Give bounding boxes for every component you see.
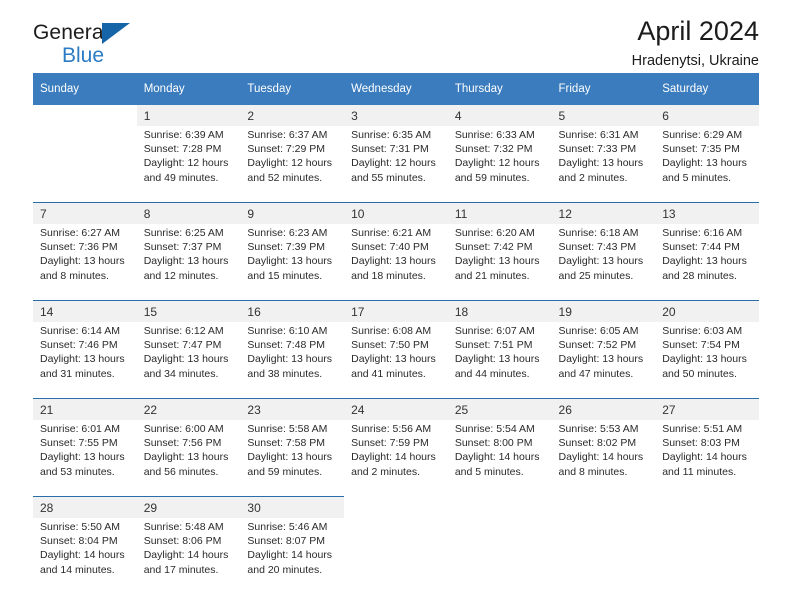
sunset-text: Sunset: 7:39 PM xyxy=(247,240,338,254)
day-details: Sunrise: 5:58 AMSunset: 7:58 PMDaylight:… xyxy=(240,420,344,497)
sunrise-text: Sunrise: 5:53 AM xyxy=(559,422,650,436)
daylight-text-line1: Daylight: 13 hours xyxy=(40,352,131,366)
day-number[interactable]: 27 xyxy=(655,399,759,421)
sunset-text: Sunset: 8:07 PM xyxy=(247,534,338,548)
day-number[interactable]: 22 xyxy=(137,399,241,421)
week-daynumber-row: 21222324252627 xyxy=(33,399,759,421)
sunset-text: Sunset: 7:58 PM xyxy=(247,436,338,450)
day-details: Sunrise: 5:46 AMSunset: 8:07 PMDaylight:… xyxy=(240,518,344,594)
sunset-text: Sunset: 7:44 PM xyxy=(662,240,753,254)
sunrise-text: Sunrise: 6:39 AM xyxy=(144,128,235,142)
sunrise-text: Sunrise: 6:33 AM xyxy=(455,128,546,142)
day-number[interactable]: 30 xyxy=(240,497,344,519)
day-cell-empty xyxy=(655,497,759,519)
day-number[interactable]: 26 xyxy=(552,399,656,421)
day-details: Sunrise: 6:03 AMSunset: 7:54 PMDaylight:… xyxy=(655,322,759,399)
day-details: Sunrise: 6:16 AMSunset: 7:44 PMDaylight:… xyxy=(655,224,759,301)
day-cell-empty xyxy=(552,518,656,594)
day-number[interactable]: 21 xyxy=(33,399,137,421)
sunrise-text: Sunrise: 5:51 AM xyxy=(662,422,753,436)
day-details: Sunrise: 6:37 AMSunset: 7:29 PMDaylight:… xyxy=(240,126,344,203)
daylight-text-line2: and 50 minutes. xyxy=(662,367,753,381)
weekday-header-wednesday: Wednesday xyxy=(344,73,448,105)
day-details: Sunrise: 6:31 AMSunset: 7:33 PMDaylight:… xyxy=(552,126,656,203)
sunset-text: Sunset: 7:32 PM xyxy=(455,142,546,156)
page-subtitle: Hradenytsi, Ukraine xyxy=(632,52,759,71)
daylight-text-line2: and 11 minutes. xyxy=(662,465,753,479)
sunrise-text: Sunrise: 5:58 AM xyxy=(247,422,338,436)
day-number[interactable]: 2 xyxy=(240,105,344,126)
daylight-text-line2: and 56 minutes. xyxy=(144,465,235,479)
day-number[interactable]: 12 xyxy=(552,203,656,225)
daylight-text-line2: and 59 minutes. xyxy=(455,171,546,185)
day-details: Sunrise: 6:21 AMSunset: 7:40 PMDaylight:… xyxy=(344,224,448,301)
day-number[interactable]: 5 xyxy=(552,105,656,126)
daylight-text-line2: and 49 minutes. xyxy=(144,171,235,185)
sunrise-text: Sunrise: 5:50 AM xyxy=(40,520,131,534)
sunrise-text: Sunrise: 5:56 AM xyxy=(351,422,442,436)
sunset-text: Sunset: 7:37 PM xyxy=(144,240,235,254)
daylight-text-line2: and 31 minutes. xyxy=(40,367,131,381)
day-details: Sunrise: 6:08 AMSunset: 7:50 PMDaylight:… xyxy=(344,322,448,399)
daylight-text-line2: and 53 minutes. xyxy=(40,465,131,479)
daylight-text-line1: Daylight: 13 hours xyxy=(455,254,546,268)
day-details: Sunrise: 6:27 AMSunset: 7:36 PMDaylight:… xyxy=(33,224,137,301)
day-number[interactable]: 23 xyxy=(240,399,344,421)
title-block: April 2024 Hradenytsi, Ukraine xyxy=(632,16,759,71)
day-number[interactable]: 1 xyxy=(137,105,241,126)
daylight-text-line1: Daylight: 12 hours xyxy=(247,156,338,170)
week-daynumber-row: 282930 xyxy=(33,497,759,519)
sunrise-text: Sunrise: 6:21 AM xyxy=(351,226,442,240)
brand-logo: General Blue xyxy=(33,22,233,72)
daylight-text-line1: Daylight: 13 hours xyxy=(144,254,235,268)
daylight-text-line1: Daylight: 13 hours xyxy=(662,352,753,366)
day-number[interactable]: 24 xyxy=(344,399,448,421)
daylight-text-line2: and 47 minutes. xyxy=(559,367,650,381)
day-details: Sunrise: 5:48 AMSunset: 8:06 PMDaylight:… xyxy=(137,518,241,594)
day-number[interactable]: 16 xyxy=(240,301,344,323)
sunset-text: Sunset: 7:59 PM xyxy=(351,436,442,450)
sunrise-text: Sunrise: 6:35 AM xyxy=(351,128,442,142)
weekday-header-tuesday: Tuesday xyxy=(240,73,344,105)
day-number[interactable]: 20 xyxy=(655,301,759,323)
sunset-text: Sunset: 7:47 PM xyxy=(144,338,235,352)
week-daynumber-row: 78910111213 xyxy=(33,203,759,225)
sunrise-text: Sunrise: 6:20 AM xyxy=(455,226,546,240)
day-number[interactable]: 7 xyxy=(33,203,137,225)
sunset-text: Sunset: 7:40 PM xyxy=(351,240,442,254)
day-details: Sunrise: 6:12 AMSunset: 7:47 PMDaylight:… xyxy=(137,322,241,399)
day-number[interactable]: 17 xyxy=(344,301,448,323)
daylight-text-line2: and 41 minutes. xyxy=(351,367,442,381)
day-details: Sunrise: 6:39 AMSunset: 7:28 PMDaylight:… xyxy=(137,126,241,203)
daylight-text-line1: Daylight: 13 hours xyxy=(662,254,753,268)
weekday-header-saturday: Saturday xyxy=(655,73,759,105)
day-details: Sunrise: 6:18 AMSunset: 7:43 PMDaylight:… xyxy=(552,224,656,301)
day-details: Sunrise: 6:29 AMSunset: 7:35 PMDaylight:… xyxy=(655,126,759,203)
day-details: Sunrise: 6:01 AMSunset: 7:55 PMDaylight:… xyxy=(33,420,137,497)
day-details: Sunrise: 6:07 AMSunset: 7:51 PMDaylight:… xyxy=(448,322,552,399)
daylight-text-line1: Daylight: 13 hours xyxy=(247,450,338,464)
sunrise-text: Sunrise: 6:05 AM xyxy=(559,324,650,338)
day-number[interactable]: 9 xyxy=(240,203,344,225)
day-number[interactable]: 15 xyxy=(137,301,241,323)
sunrise-text: Sunrise: 6:16 AM xyxy=(662,226,753,240)
daylight-text-line2: and 21 minutes. xyxy=(455,269,546,283)
weekday-header-sunday: Sunday xyxy=(33,73,137,105)
calendar-grid: Sunday Monday Tuesday Wednesday Thursday… xyxy=(33,73,759,594)
daylight-text-line2: and 8 minutes. xyxy=(40,269,131,283)
sunset-text: Sunset: 7:33 PM xyxy=(559,142,650,156)
day-number[interactable]: 10 xyxy=(344,203,448,225)
day-details: Sunrise: 6:35 AMSunset: 7:31 PMDaylight:… xyxy=(344,126,448,203)
weekday-header-friday: Friday xyxy=(552,73,656,105)
daylight-text-line2: and 5 minutes. xyxy=(662,171,753,185)
weekday-header-monday: Monday xyxy=(137,73,241,105)
day-number[interactable]: 6 xyxy=(655,105,759,126)
sunrise-text: Sunrise: 6:08 AM xyxy=(351,324,442,338)
day-details: Sunrise: 6:05 AMSunset: 7:52 PMDaylight:… xyxy=(552,322,656,399)
daylight-text-line1: Daylight: 12 hours xyxy=(455,156,546,170)
daylight-text-line1: Daylight: 13 hours xyxy=(351,352,442,366)
daylight-text-line2: and 28 minutes. xyxy=(662,269,753,283)
sunrise-text: Sunrise: 6:03 AM xyxy=(662,324,753,338)
daylight-text-line2: and 2 minutes. xyxy=(559,171,650,185)
sunset-text: Sunset: 7:29 PM xyxy=(247,142,338,156)
sunset-text: Sunset: 7:48 PM xyxy=(247,338,338,352)
day-details: Sunrise: 5:56 AMSunset: 7:59 PMDaylight:… xyxy=(344,420,448,497)
daylight-text-line2: and 59 minutes. xyxy=(247,465,338,479)
week-detail-row: Sunrise: 6:27 AMSunset: 7:36 PMDaylight:… xyxy=(33,224,759,301)
sunrise-text: Sunrise: 5:54 AM xyxy=(455,422,546,436)
sunrise-text: Sunrise: 6:01 AM xyxy=(40,422,131,436)
daylight-text-line2: and 20 minutes. xyxy=(247,563,338,577)
sunset-text: Sunset: 7:46 PM xyxy=(40,338,131,352)
day-cell-empty xyxy=(344,518,448,594)
day-details: Sunrise: 6:00 AMSunset: 7:56 PMDaylight:… xyxy=(137,420,241,497)
day-number[interactable]: 14 xyxy=(33,301,137,323)
triangle-icon xyxy=(102,23,130,44)
sunset-text: Sunset: 7:36 PM xyxy=(40,240,131,254)
daylight-text-line1: Daylight: 13 hours xyxy=(40,254,131,268)
day-cell-empty xyxy=(33,126,137,203)
day-cell-empty xyxy=(448,497,552,519)
daylight-text-line1: Daylight: 14 hours xyxy=(662,450,753,464)
sunrise-text: Sunrise: 6:27 AM xyxy=(40,226,131,240)
day-number[interactable]: 18 xyxy=(448,301,552,323)
daylight-text-line1: Daylight: 13 hours xyxy=(662,156,753,170)
sunset-text: Sunset: 8:00 PM xyxy=(455,436,546,450)
daylight-text-line1: Daylight: 13 hours xyxy=(247,254,338,268)
day-number[interactable]: 11 xyxy=(448,203,552,225)
sunrise-text: Sunrise: 6:31 AM xyxy=(559,128,650,142)
sunset-text: Sunset: 7:52 PM xyxy=(559,338,650,352)
daylight-text-line2: and 18 minutes. xyxy=(351,269,442,283)
sunrise-text: Sunrise: 6:14 AM xyxy=(40,324,131,338)
sunrise-text: Sunrise: 6:07 AM xyxy=(455,324,546,338)
sunrise-text: Sunrise: 6:37 AM xyxy=(247,128,338,142)
day-number[interactable]: 13 xyxy=(655,203,759,225)
daylight-text-line1: Daylight: 12 hours xyxy=(351,156,442,170)
sunset-text: Sunset: 7:50 PM xyxy=(351,338,442,352)
sunrise-text: Sunrise: 6:29 AM xyxy=(662,128,753,142)
sunset-text: Sunset: 7:54 PM xyxy=(662,338,753,352)
day-cell-empty xyxy=(655,518,759,594)
daylight-text-line2: and 5 minutes. xyxy=(455,465,546,479)
day-details: Sunrise: 6:14 AMSunset: 7:46 PMDaylight:… xyxy=(33,322,137,399)
page-title: April 2024 xyxy=(632,16,759,47)
day-details: Sunrise: 6:10 AMSunset: 7:48 PMDaylight:… xyxy=(240,322,344,399)
daylight-text-line2: and 12 minutes. xyxy=(144,269,235,283)
daylight-text-line1: Daylight: 13 hours xyxy=(559,156,650,170)
page-header: General Blue April 2024 Hradenytsi, Ukra… xyxy=(33,0,759,73)
sunrise-text: Sunrise: 6:10 AM xyxy=(247,324,338,338)
week-daynumber-row: 14151617181920 xyxy=(33,301,759,323)
sunset-text: Sunset: 7:31 PM xyxy=(351,142,442,156)
week-detail-row: Sunrise: 6:14 AMSunset: 7:46 PMDaylight:… xyxy=(33,322,759,399)
sunset-text: Sunset: 8:04 PM xyxy=(40,534,131,548)
week-detail-row: Sunrise: 6:01 AMSunset: 7:55 PMDaylight:… xyxy=(33,420,759,497)
daylight-text-line1: Daylight: 14 hours xyxy=(559,450,650,464)
day-cell-empty xyxy=(552,497,656,519)
sunset-text: Sunset: 7:42 PM xyxy=(455,240,546,254)
daylight-text-line2: and 38 minutes. xyxy=(247,367,338,381)
daylight-text-line1: Daylight: 13 hours xyxy=(40,450,131,464)
day-number[interactable]: 29 xyxy=(137,497,241,519)
daylight-text-line1: Daylight: 14 hours xyxy=(144,548,235,562)
weekday-header-row: Sunday Monday Tuesday Wednesday Thursday… xyxy=(33,73,759,105)
daylight-text-line2: and 44 minutes. xyxy=(455,367,546,381)
daylight-text-line2: and 15 minutes. xyxy=(247,269,338,283)
sunrise-text: Sunrise: 5:46 AM xyxy=(247,520,338,534)
sunrise-text: Sunrise: 6:23 AM xyxy=(247,226,338,240)
sunset-text: Sunset: 7:28 PM xyxy=(144,142,235,156)
day-details: Sunrise: 5:50 AMSunset: 8:04 PMDaylight:… xyxy=(33,518,137,594)
daylight-text-line2: and 2 minutes. xyxy=(351,465,442,479)
week-daynumber-row: 123456 xyxy=(33,105,759,126)
sunrise-text: Sunrise: 6:00 AM xyxy=(144,422,235,436)
brand-name-blue: Blue xyxy=(62,45,233,66)
daylight-text-line1: Daylight: 14 hours xyxy=(247,548,338,562)
day-number[interactable]: 25 xyxy=(448,399,552,421)
sunset-text: Sunset: 8:02 PM xyxy=(559,436,650,450)
sunset-text: Sunset: 8:03 PM xyxy=(662,436,753,450)
day-details: Sunrise: 5:51 AMSunset: 8:03 PMDaylight:… xyxy=(655,420,759,497)
day-details: Sunrise: 5:53 AMSunset: 8:02 PMDaylight:… xyxy=(552,420,656,497)
daylight-text-line2: and 25 minutes. xyxy=(559,269,650,283)
daylight-text-line1: Daylight: 13 hours xyxy=(351,254,442,268)
calendar-page: General Blue April 2024 Hradenytsi, Ukra… xyxy=(0,0,792,612)
day-details: Sunrise: 6:23 AMSunset: 7:39 PMDaylight:… xyxy=(240,224,344,301)
week-detail-row: Sunrise: 5:50 AMSunset: 8:04 PMDaylight:… xyxy=(33,518,759,594)
daylight-text-line2: and 17 minutes. xyxy=(144,563,235,577)
day-details: Sunrise: 6:33 AMSunset: 7:32 PMDaylight:… xyxy=(448,126,552,203)
daylight-text-line1: Daylight: 14 hours xyxy=(351,450,442,464)
daylight-text-line2: and 14 minutes. xyxy=(40,563,131,577)
daylight-text-line1: Daylight: 13 hours xyxy=(559,254,650,268)
brand-name-general: General xyxy=(33,22,233,44)
sunrise-text: Sunrise: 6:25 AM xyxy=(144,226,235,240)
day-cell-empty xyxy=(448,518,552,594)
day-number[interactable]: 28 xyxy=(33,497,137,519)
day-details: Sunrise: 6:20 AMSunset: 7:42 PMDaylight:… xyxy=(448,224,552,301)
daylight-text-line2: and 8 minutes. xyxy=(559,465,650,479)
sunrise-text: Sunrise: 6:12 AM xyxy=(144,324,235,338)
daylight-text-line1: Daylight: 13 hours xyxy=(559,352,650,366)
day-number[interactable]: 4 xyxy=(448,105,552,126)
daylight-text-line1: Daylight: 13 hours xyxy=(455,352,546,366)
daylight-text-line2: and 52 minutes. xyxy=(247,171,338,185)
daylight-text-line1: Daylight: 13 hours xyxy=(247,352,338,366)
daylight-text-line2: and 34 minutes. xyxy=(144,367,235,381)
sunset-text: Sunset: 7:55 PM xyxy=(40,436,131,450)
daylight-text-line1: Daylight: 13 hours xyxy=(144,352,235,366)
day-number[interactable]: 19 xyxy=(552,301,656,323)
sunset-text: Sunset: 8:06 PM xyxy=(144,534,235,548)
daylight-text-line1: Daylight: 12 hours xyxy=(144,156,235,170)
daylight-text-line2: and 55 minutes. xyxy=(351,171,442,185)
day-details: Sunrise: 5:54 AMSunset: 8:00 PMDaylight:… xyxy=(448,420,552,497)
sunset-text: Sunset: 7:35 PM xyxy=(662,142,753,156)
daylight-text-line1: Daylight: 13 hours xyxy=(144,450,235,464)
week-detail-row: Sunrise: 6:39 AMSunset: 7:28 PMDaylight:… xyxy=(33,126,759,203)
sunrise-text: Sunrise: 6:18 AM xyxy=(559,226,650,240)
sunrise-text: Sunrise: 5:48 AM xyxy=(144,520,235,534)
sunset-text: Sunset: 7:56 PM xyxy=(144,436,235,450)
day-number[interactable]: 8 xyxy=(137,203,241,225)
day-cell-empty xyxy=(344,497,448,519)
sunset-text: Sunset: 7:43 PM xyxy=(559,240,650,254)
day-number[interactable]: 3 xyxy=(344,105,448,126)
daylight-text-line1: Daylight: 14 hours xyxy=(455,450,546,464)
sunset-text: Sunset: 7:51 PM xyxy=(455,338,546,352)
daylight-text-line1: Daylight: 14 hours xyxy=(40,548,131,562)
weekday-header-thursday: Thursday xyxy=(448,73,552,105)
day-details: Sunrise: 6:25 AMSunset: 7:37 PMDaylight:… xyxy=(137,224,241,301)
day-cell-empty xyxy=(33,105,137,126)
